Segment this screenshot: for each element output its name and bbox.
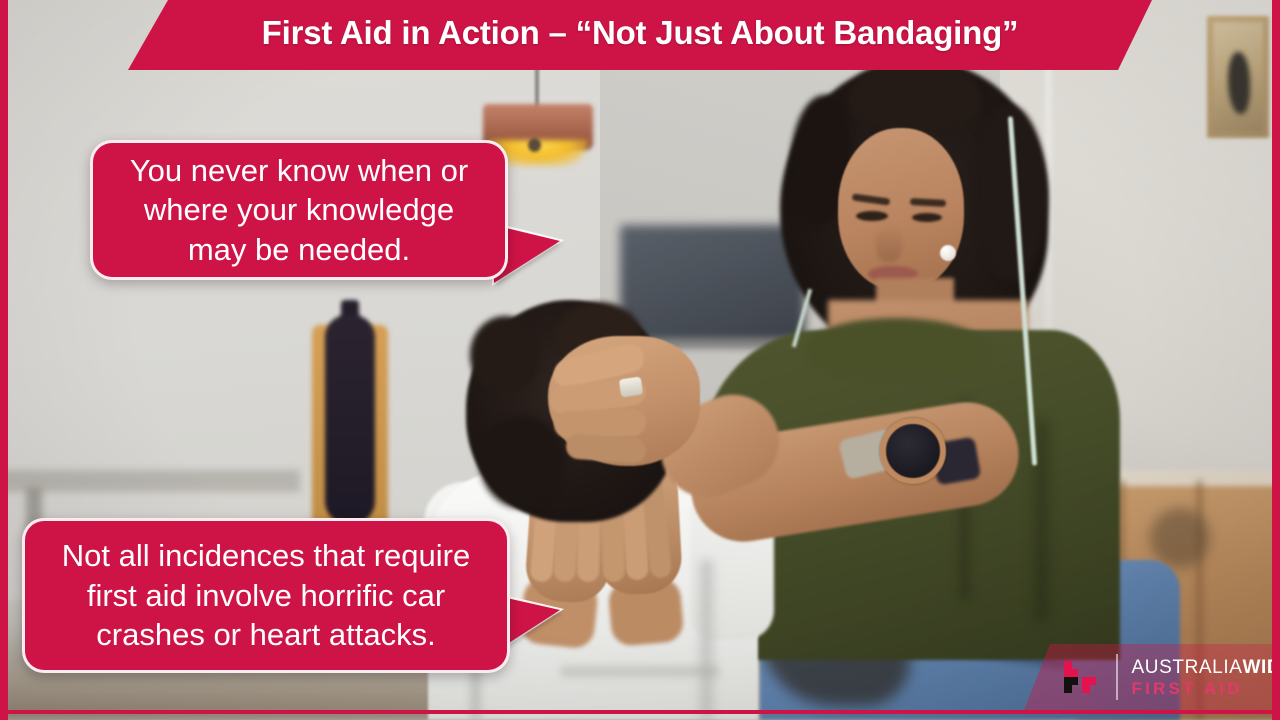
woman-eye (912, 213, 942, 222)
speech-bubble-bottom: Not all incidences that require first ai… (22, 518, 510, 673)
logo-name-part1: AUSTRALIA (1132, 657, 1243, 678)
woman-nose (876, 226, 902, 262)
wristwatch (880, 418, 946, 484)
poster-canvas: First Aid in Action – “Not Just About Ba… (0, 0, 1280, 720)
border-left (0, 0, 8, 720)
title-banner: First Aid in Action – “Not Just About Ba… (128, 0, 1152, 70)
shirt-fold (560, 666, 720, 677)
top-fold (1035, 420, 1048, 620)
border-right (1272, 0, 1280, 720)
woman-eye (856, 211, 888, 221)
first-aid-cross-icon (1058, 655, 1102, 699)
logo-name: AUSTRALIAWIDE (1132, 658, 1280, 677)
wall-art-figure (1228, 52, 1250, 114)
background-counter (0, 470, 300, 492)
logo-divider (1116, 654, 1118, 700)
brand-logo[interactable]: AUSTRALIAWIDE FIRST AID (1024, 644, 1272, 710)
speech-bubble-bottom-text: Not all incidences that require first ai… (25, 524, 507, 667)
speech-bubble-top: You never know when or where your knowle… (90, 140, 508, 280)
logo-tagline: FIRST AID (1132, 680, 1280, 697)
woman-hair-curl (850, 60, 980, 130)
background-dark-panel (620, 225, 805, 345)
pendant-lamp-bulb (528, 138, 541, 152)
border-bottom-rule (8, 710, 1272, 714)
child-hair-curl (470, 316, 540, 394)
page-title: First Aid in Action – “Not Just About Ba… (262, 14, 1019, 52)
woman-finger (554, 408, 647, 438)
shirt-fold (700, 560, 713, 720)
wedding-ring (619, 377, 643, 398)
child-hair-curl (480, 416, 564, 508)
cabinet-shadow (1150, 508, 1210, 568)
logo-wordmark: AUSTRALIAWIDE FIRST AID (1132, 658, 1280, 697)
woman-earring (940, 245, 956, 261)
woman-top-collar (806, 318, 986, 378)
speech-bubble-top-text: You never know when or where your knowle… (93, 139, 505, 282)
decor-dark-bottle (325, 315, 375, 525)
